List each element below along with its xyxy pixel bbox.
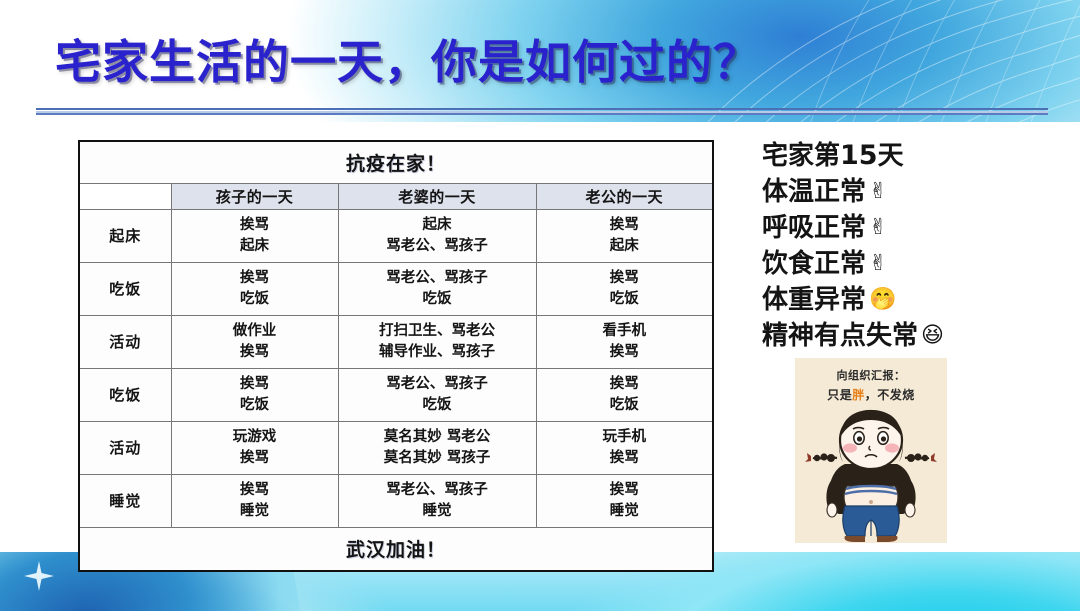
cell-wife: 起床骂老公、骂孩子 <box>338 209 536 262</box>
status-line-breathing: 呼吸正常✌ <box>762 210 1062 246</box>
table-body: 抗疫在家！ 孩子的一天 老婆的一天 老公的一天 起床 挨骂起床 起床骂老公、骂孩… <box>79 141 713 571</box>
slide-canvas: 宅家生活的一天，你是如何过的？ 抗疫在家！ 孩子的一天 老婆的一天 老公的一天 … <box>0 0 1080 611</box>
status-line-diet: 饮食正常✌ <box>762 246 1062 282</box>
table-footer: 武汉加油！ <box>79 527 713 571</box>
cartoon-caption-line2: 只是胖，不发烧 <box>795 386 947 403</box>
cell-husband: 玩手机挨骂 <box>536 421 713 474</box>
table-row: 吃饭 挨骂吃饭 骂老公、骂孩子吃饭 挨骂吃饭 <box>79 368 713 421</box>
column-header-kid: 孩子的一天 <box>171 183 338 209</box>
table-row: 吃饭 挨骂吃饭 骂老公、骂孩子吃饭 挨骂吃饭 <box>79 262 713 315</box>
status-line-weight: 体重异常🤭 <box>762 282 1062 318</box>
table-row: 活动 做作业挨骂 打扫卫生、骂老公辅导作业、骂孩子 看手机挨骂 <box>79 315 713 368</box>
cell-husband: 看手机挨骂 <box>536 315 713 368</box>
column-header-wife: 老婆的一天 <box>338 183 536 209</box>
cell-husband: 挨骂吃饭 <box>536 262 713 315</box>
column-header-husband: 老公的一天 <box>536 183 713 209</box>
cell-wife: 骂老公、骂孩子吃饭 <box>338 368 536 421</box>
cell-husband: 挨骂睡觉 <box>536 474 713 527</box>
title-divider <box>36 108 1048 115</box>
table-header-row: 孩子的一天 老婆的一天 老公的一天 <box>79 183 713 209</box>
victory-hand-emoji: ✌ <box>869 216 887 240</box>
cell-husband: 挨骂起床 <box>536 209 713 262</box>
row-label: 吃饭 <box>79 368 171 421</box>
row-label: 活动 <box>79 421 171 474</box>
cell-kid: 挨骂睡觉 <box>171 474 338 527</box>
cell-wife: 骂老公、骂孩子睡觉 <box>338 474 536 527</box>
row-label: 吃饭 <box>79 262 171 315</box>
status-line-mental: 精神有点失常😆 <box>762 318 1062 354</box>
page-title: 宅家生活的一天，你是如何过的？ <box>55 26 760 92</box>
table-footer-row: 武汉加油！ <box>79 527 713 571</box>
cell-wife: 打扫卫生、骂老公辅导作业、骂孩子 <box>338 315 536 368</box>
status-line-days: 宅家第15天 <box>762 138 1062 174</box>
table-row: 睡觉 挨骂睡觉 骂老公、骂孩子睡觉 挨骂睡觉 <box>79 474 713 527</box>
victory-hand-emoji: ✌ <box>869 180 887 204</box>
table-row: 活动 玩游戏挨骂 莫名其妙 骂老公莫名其妙 骂孩子 玩手机挨骂 <box>79 421 713 474</box>
table-corner-cell <box>79 183 171 209</box>
cell-kid: 做作业挨骂 <box>171 315 338 368</box>
cartoon-card: 向组织汇报： 只是胖，不发烧 <box>795 358 947 543</box>
cell-kid: 挨骂吃饭 <box>171 262 338 315</box>
cell-wife: 骂老公、骂孩子吃饭 <box>338 262 536 315</box>
row-label: 睡觉 <box>79 474 171 527</box>
victory-hand-emoji: ✌ <box>869 252 887 276</box>
table-caption-row: 抗疫在家！ <box>79 141 713 183</box>
cell-wife: 莫名其妙 骂老公莫名其妙 骂孩子 <box>338 421 536 474</box>
cell-husband: 挨骂吃饭 <box>536 368 713 421</box>
cell-kid: 挨骂起床 <box>171 209 338 262</box>
cell-kid: 挨骂吃饭 <box>171 368 338 421</box>
table-row: 起床 挨骂起床 起床骂老公、骂孩子 挨骂起床 <box>79 209 713 262</box>
row-label: 活动 <box>79 315 171 368</box>
table-caption: 抗疫在家！ <box>79 141 713 183</box>
laughing-face-emoji: 😆 <box>921 324 944 348</box>
cell-kid: 玩游戏挨骂 <box>171 421 338 474</box>
status-line-temperature: 体温正常✌ <box>762 174 1062 210</box>
daily-schedule-table: 抗疫在家！ 孩子的一天 老婆的一天 老公的一天 起床 挨骂起床 起床骂老公、骂孩… <box>78 140 714 572</box>
cartoon-caption-line1: 向组织汇报： <box>795 367 947 383</box>
row-label: 起床 <box>79 209 171 262</box>
hand-over-mouth-emoji: 🤭 <box>869 288 896 312</box>
status-report-list: 宅家第15天 体温正常✌ 呼吸正常✌ 饮食正常✌ 体重异常🤭 精神有点失常😆 <box>762 138 1062 354</box>
cartoon-highlight-word: 胖 <box>852 388 865 402</box>
chubby-girl-illustration <box>795 406 947 543</box>
